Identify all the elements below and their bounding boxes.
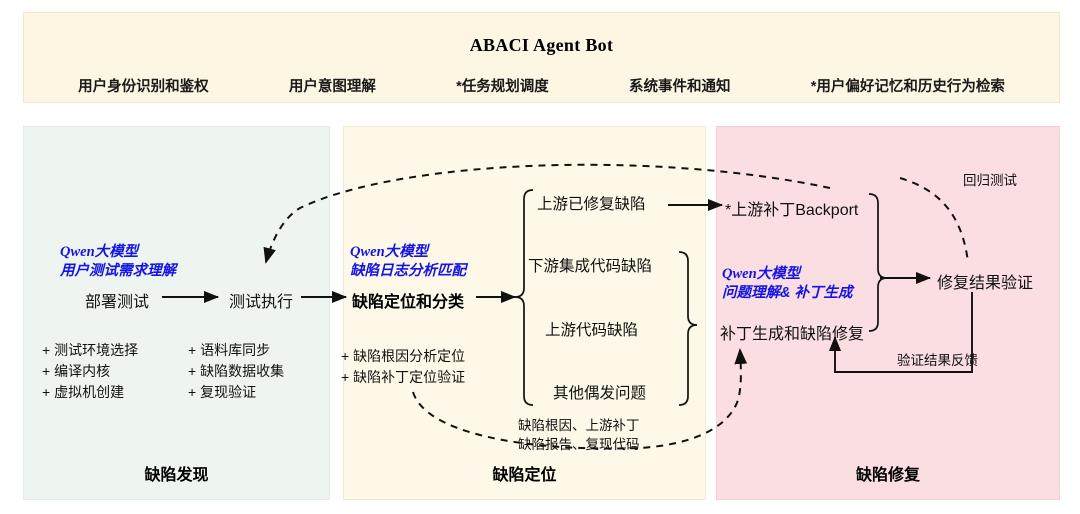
qwen-label-repair-line2: 问题理解& 补丁生成 (722, 285, 853, 301)
qwen-label-location: Qwen大模型 缺陷日志分析匹配 (350, 243, 466, 281)
node-run-test: 测试执行 (229, 288, 293, 312)
payload-line1: 缺陷根因、上游补丁 (518, 416, 640, 435)
capability-item-planning: *任务规划调度 (456, 75, 549, 96)
branch-other-sporadic: 其他偶发问题 (553, 381, 646, 403)
node-patch-gen-fix: 补丁生成和缺陷修复 (720, 320, 864, 344)
qwen-label-discovery: Qwen大模型 用户测试需求理解 (60, 243, 176, 281)
bullet-list-location: + 缺陷根因分析定位 + 缺陷补丁定位验证 (341, 346, 465, 388)
capability-item-identity: 用户身份识别和鉴权 (78, 75, 209, 96)
agent-capability-list: 用户身份识别和鉴权 用户意图理解 *任务规划调度 系统事件和通知 *用户偏好记忆… (24, 75, 1059, 96)
qwen-label-location-line1: Qwen大模型 (350, 244, 428, 260)
node-upstream-backport-label: *上游补丁Backport (725, 202, 858, 219)
edge-label-verify-feedback: 验证结果反馈 (897, 351, 978, 370)
payload-line2: 缺陷报告、复现代码 (518, 435, 640, 454)
list-item: + 缺陷根因分析定位 (341, 346, 465, 367)
branch-upstream-code: 上游代码缺陷 (545, 318, 638, 340)
branch-upstream-fixed: 上游已修复缺陷 (537, 192, 646, 214)
qwen-label-location-line2: 缺陷日志分析匹配 (350, 263, 466, 279)
qwen-label-repair: Qwen大模型 问题理解& 补丁生成 (722, 265, 853, 303)
stage-caption-defect-repair: 缺陷修复 (717, 461, 1059, 485)
list-item: + 复现验证 (188, 382, 284, 403)
list-item: + 虚拟机创建 (42, 382, 138, 403)
capability-item-intent: 用户意图理解 (289, 75, 376, 96)
branch-downstream-integration: 下游集成代码缺陷 (528, 254, 652, 276)
capability-item-events: 系统事件和通知 (629, 75, 731, 96)
capability-item-memory: *用户偏好记忆和历史行为检索 (811, 75, 1005, 96)
list-item: + 缺陷补丁定位验证 (341, 367, 465, 388)
node-deploy-test: 部署测试 (85, 288, 149, 312)
node-verify-result: 修复结果验证 (937, 269, 1033, 293)
list-item: + 测试环境选择 (42, 340, 138, 361)
list-item: + 编译内核 (42, 361, 138, 382)
stage-caption-defect-location: 缺陷定位 (344, 461, 705, 485)
bullet-list-discovery-left: + 测试环境选择 + 编译内核 + 虚拟机创建 (42, 340, 138, 403)
stage-panel-defect-discovery: 缺陷发现 (23, 126, 330, 500)
page-title: ABACI Agent Bot (24, 35, 1059, 56)
node-upstream-backport: *上游补丁Backport (725, 196, 858, 220)
node-locate-classify: 缺陷定位和分类 (352, 288, 464, 312)
diagram-canvas: ABACI Agent Bot 用户身份识别和鉴权 用户意图理解 *任务规划调度… (0, 0, 1080, 514)
qwen-label-discovery-line2: 用户测试需求理解 (60, 263, 176, 279)
list-item: + 缺陷数据收集 (188, 361, 284, 382)
stage-caption-defect-discovery: 缺陷发现 (24, 461, 329, 485)
edge-label-regression-test: 回归测试 (963, 171, 1017, 190)
agent-header-band: ABACI Agent Bot 用户身份识别和鉴权 用户意图理解 *任务规划调度… (23, 12, 1060, 103)
qwen-label-discovery-line1: Qwen大模型 (60, 244, 138, 260)
payload-label-location: 缺陷根因、上游补丁 缺陷报告、复现代码 (518, 416, 640, 454)
qwen-label-repair-line1: Qwen大模型 (722, 266, 800, 282)
list-item: + 语料库同步 (188, 340, 284, 361)
bullet-list-discovery-right: + 语料库同步 + 缺陷数据收集 + 复现验证 (188, 340, 284, 403)
